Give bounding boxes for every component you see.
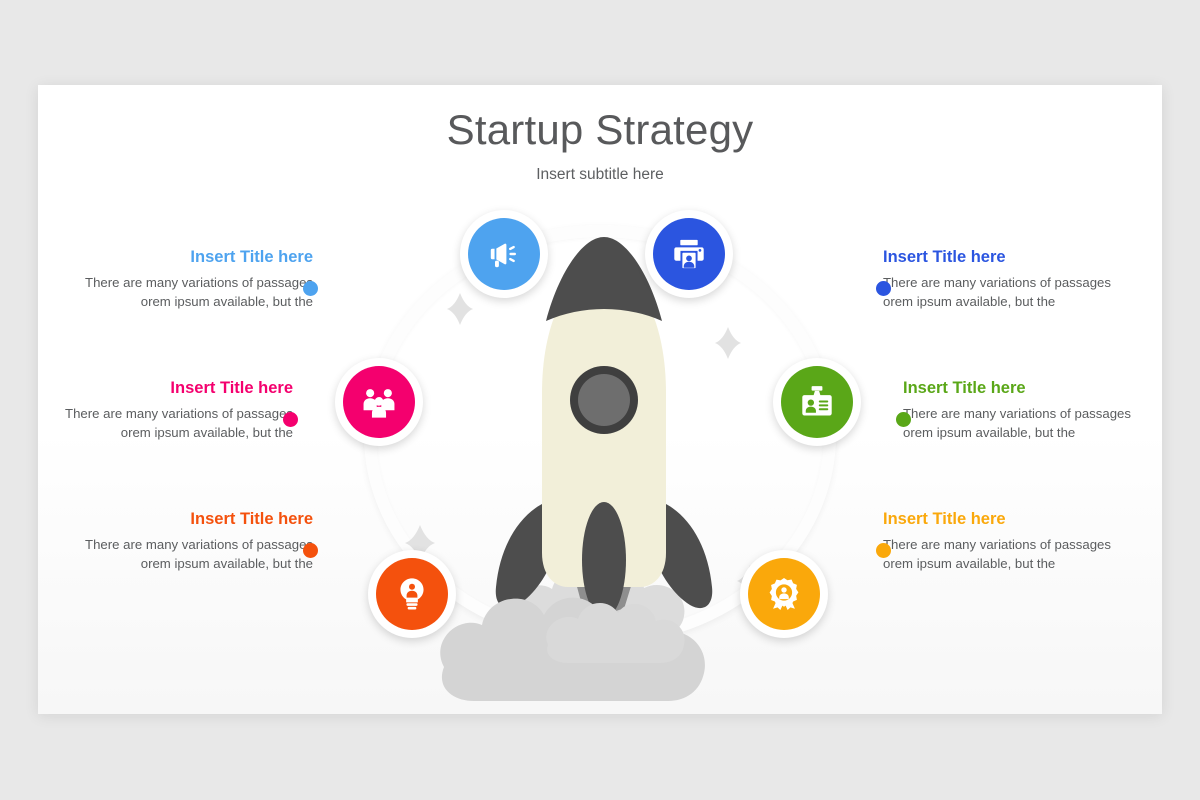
bullet-dot-5	[896, 412, 911, 427]
block-title: Insert Title here	[63, 509, 313, 530]
text-block-6[interactable]: Insert Title here There are many variati…	[883, 509, 1133, 573]
rocket-porthole	[570, 366, 638, 434]
block-body: There are many variations of passages or…	[43, 404, 293, 442]
node-megaphone[interactable]	[460, 210, 548, 298]
megaphone-icon	[486, 236, 522, 272]
block-body: There are many variations of passages or…	[63, 273, 313, 311]
id-badge-icon	[799, 384, 835, 420]
text-block-3[interactable]: Insert Title here There are many variati…	[63, 509, 313, 573]
bullet-dot-2	[283, 412, 298, 427]
block-body: There are many variations of passages or…	[883, 273, 1133, 311]
bullet-dot-6	[876, 543, 891, 558]
block-body: There are many variations of passages or…	[903, 404, 1153, 442]
bullet-dot-4	[876, 281, 891, 296]
lightbulb-person-icon	[394, 576, 430, 612]
block-title: Insert Title here	[63, 247, 313, 268]
node-team[interactable]	[335, 358, 423, 446]
bullet-dot-1	[303, 281, 318, 296]
slide-header: Startup Strategy Insert subtitle here	[38, 105, 1162, 184]
bullet-dot-3	[303, 543, 318, 558]
block-body: There are many variations of passages or…	[63, 535, 313, 573]
text-block-1[interactable]: Insert Title here There are many variati…	[63, 247, 313, 311]
rocket-launch-illustration	[398, 215, 808, 714]
node-idcard[interactable]	[773, 358, 861, 446]
block-title: Insert Title here	[883, 247, 1133, 268]
block-title: Insert Title here	[903, 378, 1153, 399]
node-team-disc	[343, 366, 415, 438]
node-printer[interactable]	[645, 210, 733, 298]
presentation-slide: Startup Strategy Insert subtitle here	[38, 85, 1162, 714]
block-title: Insert Title here	[883, 509, 1133, 530]
block-body: There are many variations of passages or…	[883, 535, 1133, 573]
page-title: Startup Strategy	[38, 105, 1162, 155]
text-block-5[interactable]: Insert Title here There are many variati…	[903, 378, 1153, 442]
node-idea[interactable]	[368, 550, 456, 638]
rocket-center-fin	[582, 502, 626, 618]
block-title: Insert Title here	[43, 378, 293, 399]
node-idcard-disc	[781, 366, 853, 438]
node-award-disc	[748, 558, 820, 630]
printer-person-icon	[671, 236, 707, 272]
node-megaphone-disc	[468, 218, 540, 290]
node-award[interactable]	[740, 550, 828, 638]
text-block-2[interactable]: Insert Title here There are many variati…	[43, 378, 293, 442]
node-printer-disc	[653, 218, 725, 290]
award-ribbon-person-icon	[766, 576, 802, 612]
text-block-4[interactable]: Insert Title here There are many variati…	[883, 247, 1133, 311]
node-idea-disc	[376, 558, 448, 630]
team-group-icon	[361, 384, 397, 420]
page-subtitle: Insert subtitle here	[38, 166, 1162, 184]
